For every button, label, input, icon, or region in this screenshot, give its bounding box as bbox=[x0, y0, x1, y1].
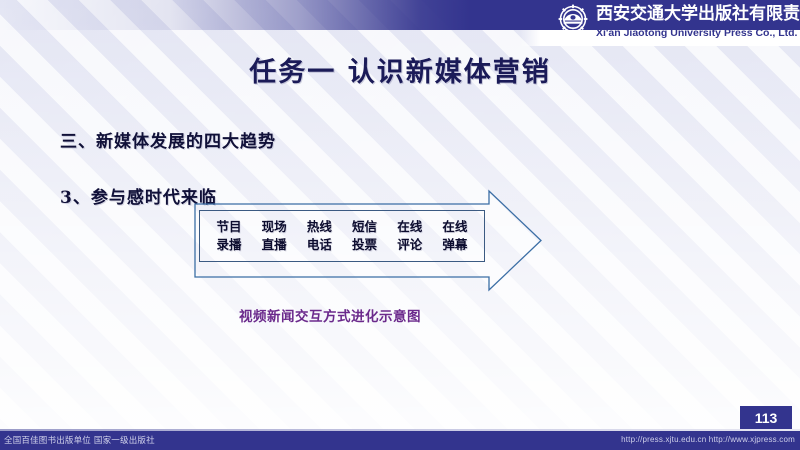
cell-mode-5-line1: 在线 bbox=[390, 218, 430, 236]
publisher-name-cn: 西安交通大学出版社有限责任公司 bbox=[596, 3, 796, 25]
cell-mode-1-line2: 录播 bbox=[209, 236, 249, 254]
diagram-caption: 视频新闻交互方式进化示意图 bbox=[150, 305, 510, 325]
cell-mode-2-line2: 直播 bbox=[254, 236, 294, 254]
cell-mode-6-line1: 在线 bbox=[435, 218, 475, 236]
cell-mode-4-line1: 短信 bbox=[345, 218, 385, 236]
page-number-badge: 113 bbox=[740, 406, 792, 430]
footer-credit-text: 全国百佳图书出版单位 国家一级出版社 bbox=[4, 434, 155, 446]
table-row-bottom: 录播 直播 电话 投票 评论 弹幕 bbox=[200, 236, 484, 254]
xjtu-press-gear-logo-icon bbox=[556, 3, 590, 35]
cell-mode-3-line1: 热线 bbox=[299, 218, 339, 236]
footer-urls[interactable]: http://press.xjtu.edu.cn http://www.xjpr… bbox=[621, 435, 795, 444]
page-title: 任务一 认识新媒体营销 bbox=[0, 50, 800, 89]
slide-canvas: 西安交通大学出版社有限责任公司 Xi'an Jiaotong Universit… bbox=[0, 0, 800, 450]
evolution-arrow-diagram: 节目 现场 热线 短信 在线 在线 录播 直播 电话 投票 评论 弹幕 bbox=[193, 188, 543, 293]
publisher-name-en: Xi'an Jiaotong University Press Co., Ltd… bbox=[596, 25, 800, 41]
section-heading-trends: 三、新媒体发展的四大趋势 bbox=[60, 127, 276, 152]
cell-mode-4-line2: 投票 bbox=[345, 236, 385, 254]
cell-mode-3-line2: 电话 bbox=[299, 236, 339, 254]
cell-mode-1-line1: 节目 bbox=[209, 218, 249, 236]
footer-bar: 全国百佳图书出版单位 国家一级出版社 http://press.xjtu.edu… bbox=[0, 431, 800, 450]
cell-mode-5-line2: 评论 bbox=[390, 236, 430, 254]
cell-mode-6-line2: 弹幕 bbox=[435, 236, 475, 254]
table-row-top: 节目 现场 热线 短信 在线 在线 bbox=[200, 218, 484, 236]
cell-mode-2-line1: 现场 bbox=[254, 218, 294, 236]
publisher-logo-block: 西安交通大学出版社有限责任公司 Xi'an Jiaotong Universit… bbox=[556, 3, 796, 45]
interaction-modes-table: 节目 现场 热线 短信 在线 在线 录播 直播 电话 投票 评论 弹幕 bbox=[199, 210, 485, 262]
